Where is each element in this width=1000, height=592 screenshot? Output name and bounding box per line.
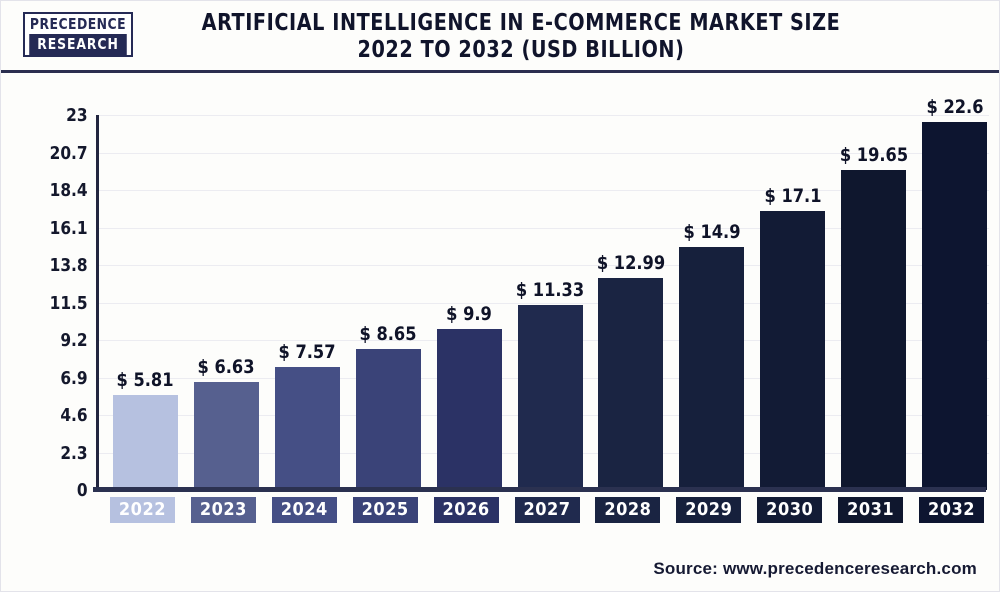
y-axis-tick-label: 6.9 [34, 368, 87, 389]
bar-chart: 02.34.66.99.211.513.816.118.420.723 $ 5.… [1, 73, 1000, 543]
bar-2031[interactable]: $ 19.65 [841, 170, 906, 490]
year-legend-2029[interactable]: 2029 [676, 497, 741, 523]
year-legend-2031[interactable]: 2031 [838, 497, 903, 523]
logo-line-precedence: PRECEDENCE [29, 14, 127, 34]
bar-value-label: $ 11.33 [516, 279, 584, 301]
bar-value-label: $ 14.9 [683, 221, 740, 243]
y-axis-tick-label: 16.1 [34, 218, 87, 239]
bar-value-label: $ 22.6 [926, 96, 983, 118]
y-axis-tick-label: 9.2 [34, 330, 87, 351]
bar-value-label: $ 6.63 [198, 356, 255, 378]
logo-line-research: RESEARCH [29, 34, 127, 55]
year-legend-2032[interactable]: 2032 [919, 497, 984, 523]
y-axis-tick-label: 0 [34, 480, 87, 501]
y-axis-tick-labels: 02.34.66.99.211.513.816.118.420.723 [29, 115, 89, 490]
year-legend-2022[interactable]: 2022 [110, 497, 175, 523]
bar-2032[interactable]: $ 22.6 [922, 122, 987, 490]
bar-2025[interactable]: $ 8.65 [356, 349, 421, 490]
page-title: ARTIFICIAL INTELLIGENCE IN E-COMMERCE MA… [151, 10, 891, 64]
y-axis-tick-label: 23 [34, 105, 87, 126]
y-axis-tick-label: 4.6 [34, 405, 87, 426]
y-axis-tick-label: 20.7 [34, 143, 87, 164]
year-legend-2030[interactable]: 2030 [757, 497, 822, 523]
year-legend-2023[interactable]: 2023 [191, 497, 256, 523]
bar-2028[interactable]: $ 12.99 [598, 278, 663, 490]
title-line-1: ARTIFICIAL INTELLIGENCE IN E-COMMERCE MA… [177, 10, 865, 37]
bar-value-label: $ 12.99 [597, 252, 665, 274]
source-text: Source: www.precedenceresearch.com [653, 559, 977, 579]
y-axis-tick-label: 18.4 [34, 180, 87, 201]
year-legend-2027[interactable]: 2027 [515, 497, 580, 523]
precedence-research-logo: PRECEDENCE RESEARCH [23, 12, 133, 57]
bar-value-label: $ 7.57 [279, 341, 336, 363]
bar-2029[interactable]: $ 14.9 [679, 247, 744, 490]
bar-2024[interactable]: $ 7.57 [275, 367, 340, 490]
y-axis-tick-label: 2.3 [34, 443, 87, 464]
bar-value-label: $ 17.1 [764, 185, 821, 207]
year-legend-2026[interactable]: 2026 [434, 497, 499, 523]
gridline [99, 115, 989, 116]
bar-2027[interactable]: $ 11.33 [518, 305, 583, 490]
y-axis-tick-label: 13.8 [34, 255, 87, 276]
y-axis-tick-label: 11.5 [34, 293, 87, 314]
year-legend-2024[interactable]: 2024 [272, 497, 337, 523]
year-legend-2025[interactable]: 2025 [353, 497, 418, 523]
bar-2022[interactable]: $ 5.81 [113, 395, 178, 490]
x-axis-baseline [93, 487, 986, 492]
bar-value-label: $ 9.9 [446, 303, 492, 325]
bar-2030[interactable]: $ 17.1 [760, 211, 825, 490]
plot-area: $ 5.81$ 6.63$ 7.57$ 8.65$ 9.9$ 11.33$ 12… [96, 115, 986, 490]
bar-value-label: $ 5.81 [117, 369, 174, 391]
chart-header: PRECEDENCE RESEARCH ARTIFICIAL INTELLIGE… [1, 1, 1000, 73]
year-legend-2028[interactable]: 2028 [595, 497, 660, 523]
x-axis-year-legend: 2022202320242025202620272028202920302031… [96, 497, 986, 525]
title-line-2: 2022 TO 2032 (USD BILLION) [177, 37, 865, 64]
chart-page: PRECEDENCE RESEARCH ARTIFICIAL INTELLIGE… [0, 0, 1000, 592]
bar-2026[interactable]: $ 9.9 [437, 329, 502, 490]
bar-2023[interactable]: $ 6.63 [194, 382, 259, 490]
bar-value-label: $ 8.65 [360, 323, 417, 345]
bar-value-label: $ 19.65 [839, 144, 907, 166]
